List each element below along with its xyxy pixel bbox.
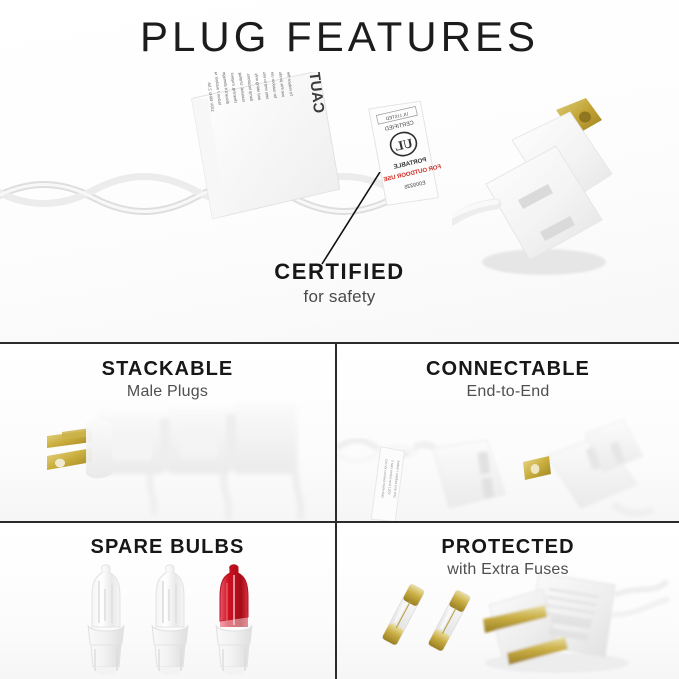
panel-title: PROTECTED <box>337 536 679 559</box>
panel-subtitle: End-to-End <box>337 383 679 401</box>
panel-header-spare-bulbs: SPARE BULBS <box>0 536 335 561</box>
panel-header-connectable: CONNECTABLE End-to-End <box>337 358 679 401</box>
stacking-plug-photo <box>452 92 622 282</box>
callout-title: CERTIFIED <box>0 260 679 284</box>
panel-protected: PROTECTED with Extra Fuses <box>337 523 679 679</box>
certified-callout: CERTIFIED for safety <box>0 260 679 307</box>
panel-subtitle: with Extra Fuses <box>337 561 679 579</box>
panel-title: SPARE BULBS <box>0 536 335 559</box>
panel-stackable: STACKABLE Male Plugs <box>0 344 335 521</box>
panel-title: STACKABLE <box>0 358 335 381</box>
page-title: PLUG FEATURES <box>0 16 679 58</box>
panel-title: CONNECTABLE <box>337 358 679 381</box>
panel-header-protected: PROTECTED with Extra Fuses <box>337 536 679 579</box>
panel-spare-bulbs: SPARE BULBS <box>0 523 335 679</box>
panel-header-stackable: STACKABLE Male Plugs <box>0 358 335 401</box>
plug-features-infographic: PLUG FEATURES CAUTION <box>0 0 679 679</box>
callout-subtitle: for safety <box>0 287 679 307</box>
hero-panel: PLUG FEATURES CAUTION <box>0 0 679 343</box>
panel-subtitle: Male Plugs <box>0 383 335 401</box>
callout-leader-line <box>318 172 388 268</box>
panel-connectable: Do not connect more than 3 sets end to e… <box>337 344 679 521</box>
